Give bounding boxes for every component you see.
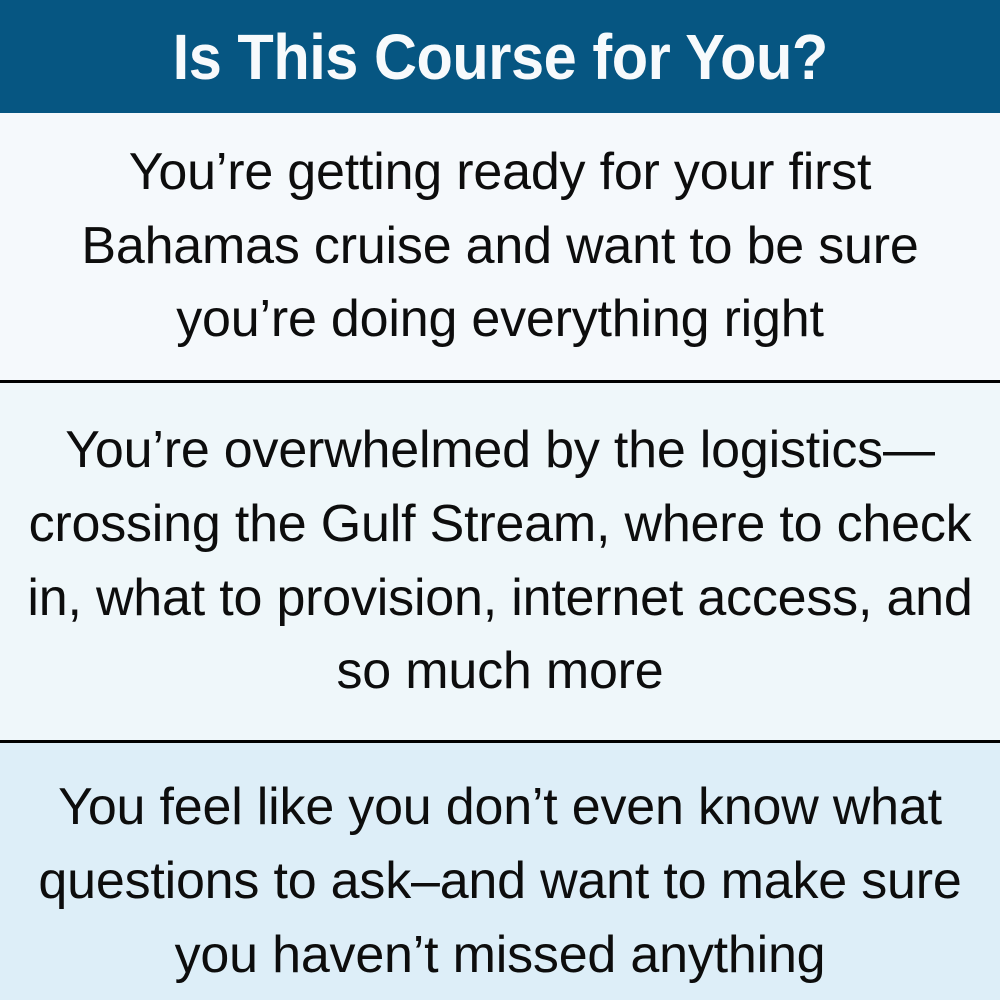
section-dont-know-questions: You feel like you don’t even know what q… bbox=[0, 743, 1000, 1000]
section-overwhelmed-logistics-text: You’re overwhelmed by the logistics—cros… bbox=[14, 414, 986, 709]
section-getting-ready-text: You’re getting ready for your first Baha… bbox=[14, 136, 986, 357]
page-title: Is This Course for You? bbox=[172, 25, 827, 89]
section-dont-know-questions-text: You feel like you don’t even know what q… bbox=[14, 771, 986, 992]
section-overwhelmed-logistics: You’re overwhelmed by the logistics—cros… bbox=[0, 383, 1000, 740]
infographic-card: Is This Course for You? You’re getting r… bbox=[0, 0, 1000, 1000]
section-getting-ready: You’re getting ready for your first Baha… bbox=[0, 113, 1000, 380]
header-band: Is This Course for You? bbox=[0, 0, 1000, 113]
